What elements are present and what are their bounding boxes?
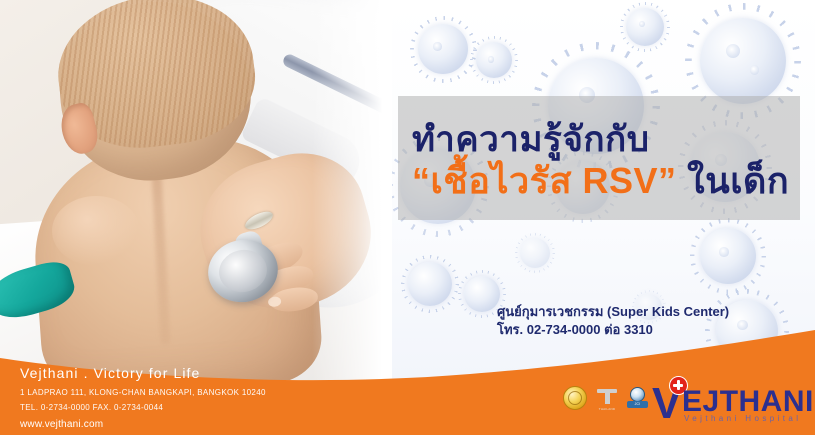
virus-particle-icon xyxy=(520,238,550,268)
headline-line-1: ทำความรู้จักกับ xyxy=(412,121,788,159)
virus-particle-icon xyxy=(464,276,500,312)
baby-examination-photo xyxy=(0,0,392,380)
headline-line-2: “เชื้อไวรัส RSV” ในเด็ก xyxy=(412,161,788,201)
gold-seal-icon xyxy=(563,386,587,410)
photo-baby-shoulder xyxy=(52,196,140,266)
footer-street-address: 1 LADPRAO 111, KLONG-CHAN BANGKAPI, BANG… xyxy=(20,386,266,401)
brand-tagline: Vejthani . Victory for Life xyxy=(20,365,266,381)
rsv-awareness-banner: ทำความรู้จักกับ “เชื้อไวรัส RSV” ในเด็ก … xyxy=(0,0,815,435)
thailand-trust-mark-icon: THAILAND xyxy=(596,386,618,410)
footer-tel-fax: TEL. 0-2734-0000 FAX. 0-2734-0044 xyxy=(20,401,266,416)
logo-subtitle: Vejthani Hospital xyxy=(684,414,801,423)
vejthani-logo[interactable]: V EJTHANI Vejthani Hospital xyxy=(652,378,802,428)
jci-accreditation-icon: JCI xyxy=(627,386,648,410)
t-mark-label: THAILAND xyxy=(596,407,618,411)
headline-suffix: ในเด็ก xyxy=(677,160,790,201)
photo-edge-fade xyxy=(312,0,392,380)
virus-particle-icon xyxy=(418,24,468,74)
headline-highlight: “เชื้อไวรัส RSV” xyxy=(412,160,677,201)
jci-label: JCI xyxy=(627,401,648,408)
footer-address-block: Vejthani . Victory for Life 1 LADPRAO 11… xyxy=(20,365,266,430)
virus-particle-icon xyxy=(700,18,786,104)
footer-website[interactable]: www.vejthani.com xyxy=(20,419,266,430)
accreditation-badges: THAILAND JCI xyxy=(563,386,648,410)
virus-particle-icon xyxy=(626,8,664,46)
virus-particle-icon xyxy=(476,42,512,78)
department-name: ศูนย์กุมารเวชกรรม (Super Kids Center) xyxy=(497,303,797,321)
virus-particle-icon xyxy=(408,262,452,306)
headline-block: ทำความรู้จักกับ “เชื้อไวรัส RSV” ในเด็ก xyxy=(398,96,800,220)
virus-particle-icon xyxy=(700,228,756,284)
logo-wordmark: EJTHANI xyxy=(682,387,814,417)
